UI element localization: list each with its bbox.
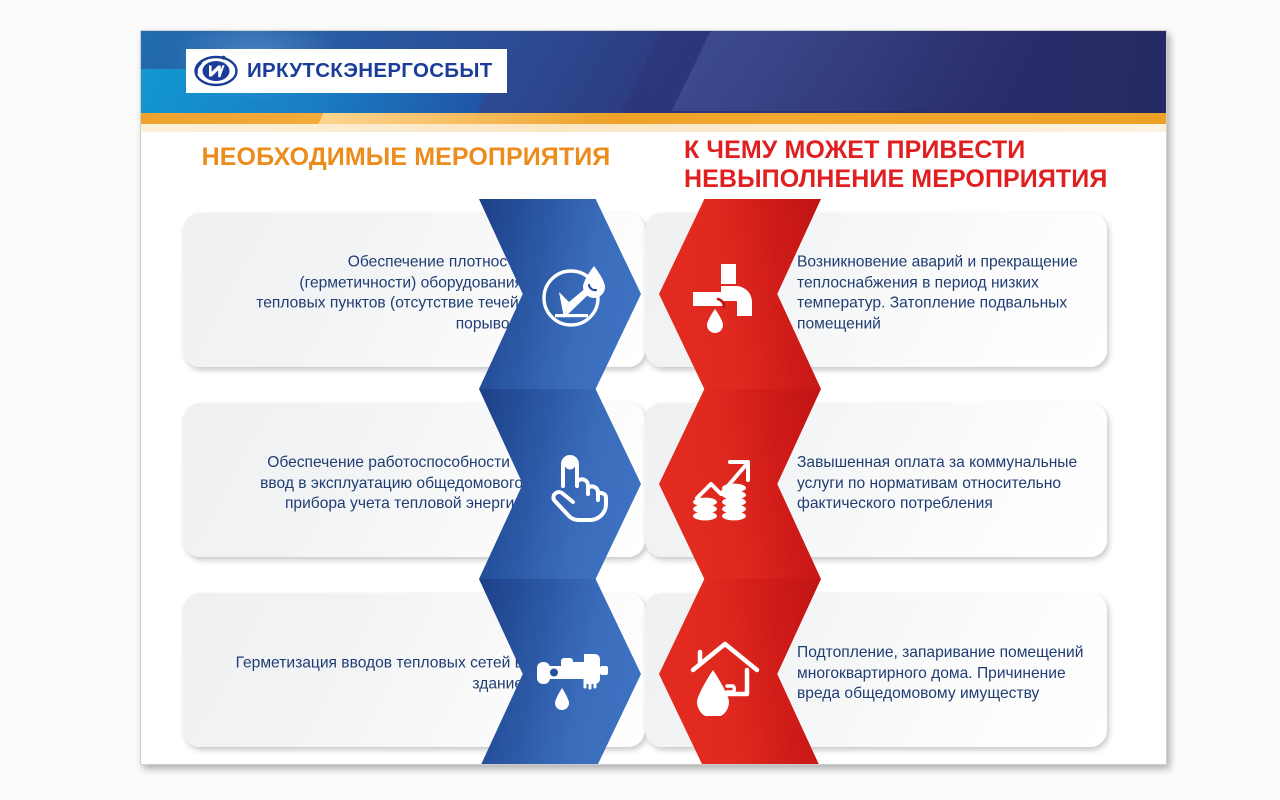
rising-arrow-coins-icon xyxy=(685,442,769,526)
header-cream-bar xyxy=(141,124,1166,132)
consequence-cell: Завышенная оплата за коммунальные услуги… xyxy=(635,389,1133,579)
consequence-cell: Возникновение аварий и прекращение тепло… xyxy=(635,199,1133,389)
brand-name: ИРКУТСКЭНЕРГОСБЫТ xyxy=(247,59,493,83)
content-row: Обеспечение плотности (герметичности) об… xyxy=(141,199,1166,389)
measure-cell: Герметизация вводов тепловых сетей в зда… xyxy=(175,579,673,765)
irkutskenergosbyt-logo-icon xyxy=(194,54,238,88)
heading-consequences: К ЧЕМУ МОЖЕТ ПРИВЕСТИ НЕВЫПОЛНЕНИЕ МЕРОП… xyxy=(684,136,1154,195)
measure-text: Обеспечение плотности (герметичности) об… xyxy=(233,253,523,336)
pipe-sealing-hand-icon xyxy=(531,632,615,716)
measure-cell: Обеспечение работоспособности и ввод в э… xyxy=(175,389,673,579)
content-row: Обеспечение работоспособности и ввод в э… xyxy=(141,389,1166,579)
consequence-cell: Подтопление, запаривание помещений много… xyxy=(635,579,1133,765)
content-rows: Обеспечение плотности (герметичности) об… xyxy=(141,199,1166,765)
water-drop-checkmark-icon xyxy=(531,252,615,336)
consequence-text: Подтопление, запаривание помещений много… xyxy=(797,643,1087,705)
column-headings: НЕОБХОДИМЫЕ МЕРОПРИЯТИЯ К ЧЕМУ МОЖЕТ ПРИ… xyxy=(141,132,1166,204)
banner-glow-right xyxy=(672,31,1061,111)
content-row: Герметизация вводов тепловых сетей в зда… xyxy=(141,579,1166,765)
measure-text: Обеспечение работоспособности и ввод в э… xyxy=(233,453,523,515)
measure-cell: Обеспечение плотности (герметичности) об… xyxy=(175,199,673,389)
heading-required-measures: НЕОБХОДИМЫЕ МЕРОПРИЯТИЯ xyxy=(171,143,641,172)
presentation-slide: ИРКУТСКЭНЕРГОСБЫТ НЕОБХОДИМЫЕ МЕРОПРИЯТИ… xyxy=(140,30,1167,765)
house-water-drop-icon xyxy=(685,632,769,716)
heading-consequences-line2: НЕВЫПОЛНЕНИЕ МЕРОПРИЯТИЯ xyxy=(684,165,1154,194)
header-orange-bar xyxy=(141,113,1166,124)
brand-logo-box: ИРКУТСКЭНЕРГОСБЫТ xyxy=(186,49,507,93)
brand-header-banner: ИРКУТСКЭНЕРГОСБЫТ xyxy=(141,31,1166,113)
leaking-pipe-icon xyxy=(685,252,769,336)
consequence-text: Завышенная оплата за коммунальные услуги… xyxy=(797,453,1087,515)
measure-text: Герметизация вводов тепловых сетей в зда… xyxy=(233,653,523,694)
heading-consequences-line1: К ЧЕМУ МОЖЕТ ПРИВЕСТИ xyxy=(684,136,1025,164)
pointing-hand-icon xyxy=(531,442,615,526)
consequence-text: Возникновение аварий и прекращение тепло… xyxy=(797,253,1087,336)
slide-canvas: ИРКУТСКЭНЕРГОСБЫТ НЕОБХОДИМЫЕ МЕРОПРИЯТИ… xyxy=(0,0,1280,800)
